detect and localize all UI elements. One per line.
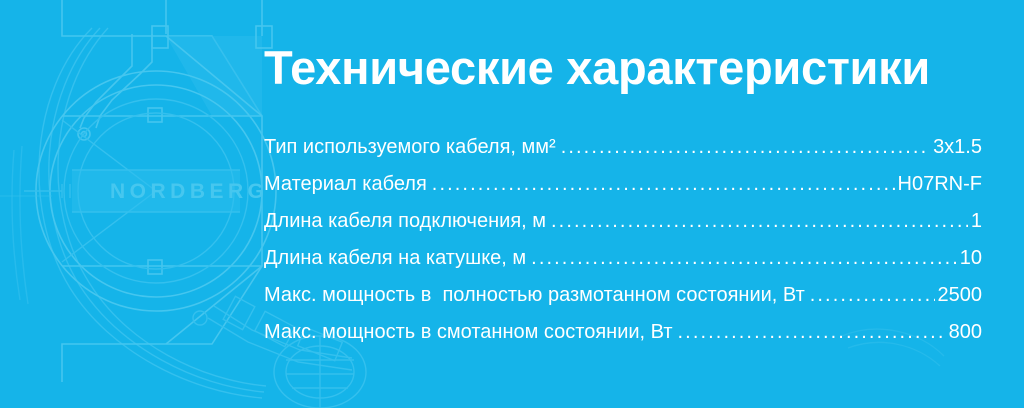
dot-leader xyxy=(432,174,895,194)
spec-label: Макс. мощность в смотанном состоянии, Вт xyxy=(264,321,673,344)
specifications-list: Тип используемого кабеля, мм² 3x1.5 Мате… xyxy=(264,136,982,358)
spec-value: 2500 xyxy=(938,284,983,307)
spec-row: Макс. мощность в смотанном состоянии, Вт… xyxy=(264,321,982,358)
left-edge-strokes xyxy=(0,146,52,304)
drum-housing-hexagon xyxy=(62,0,272,382)
spec-value: 1 xyxy=(971,210,982,233)
page-title: Технические характеристики xyxy=(264,44,930,91)
spec-value: 3x1.5 xyxy=(933,136,982,159)
spec-label: Тип используемого кабеля, мм² xyxy=(264,136,556,159)
spec-label: Материал кабеля xyxy=(264,173,427,196)
dot-leader xyxy=(531,248,957,268)
dot-leader xyxy=(678,322,946,342)
spec-value: 800 xyxy=(949,321,982,344)
drum-spokes xyxy=(24,120,156,262)
content-column: Технические характеристики Тип используе… xyxy=(264,0,982,408)
spec-value: 10 xyxy=(960,247,982,270)
spec-row: Длина кабеля на катушке, м 10 xyxy=(264,247,982,284)
dot-leader xyxy=(561,137,930,157)
spec-row: Макс. мощность в полностью размотанном с… xyxy=(264,284,982,321)
dot-leader xyxy=(810,285,935,305)
spec-row: Длина кабеля подключения, м 1 xyxy=(264,210,982,247)
brand-watermark: NORDBERG xyxy=(72,170,269,212)
drum-circles xyxy=(36,71,276,311)
dot-leader xyxy=(551,211,968,231)
spec-slide: NORDBERG xyxy=(0,0,1024,408)
spec-label: Макс. мощность в полностью размотанном с… xyxy=(264,284,805,307)
spec-row: Материал кабеля H07RN-F xyxy=(264,173,982,210)
spec-label: Длина кабеля подключения, м xyxy=(264,210,546,233)
spec-value: H07RN-F xyxy=(898,173,982,196)
spec-label: Длина кабеля на катушке, м xyxy=(264,247,526,270)
svg-text:NORDBERG: NORDBERG xyxy=(110,180,269,203)
reel-guard-arc xyxy=(39,28,266,398)
bracket-arm xyxy=(78,34,152,140)
spec-row: Тип используемого кабеля, мм² 3x1.5 xyxy=(264,136,982,173)
